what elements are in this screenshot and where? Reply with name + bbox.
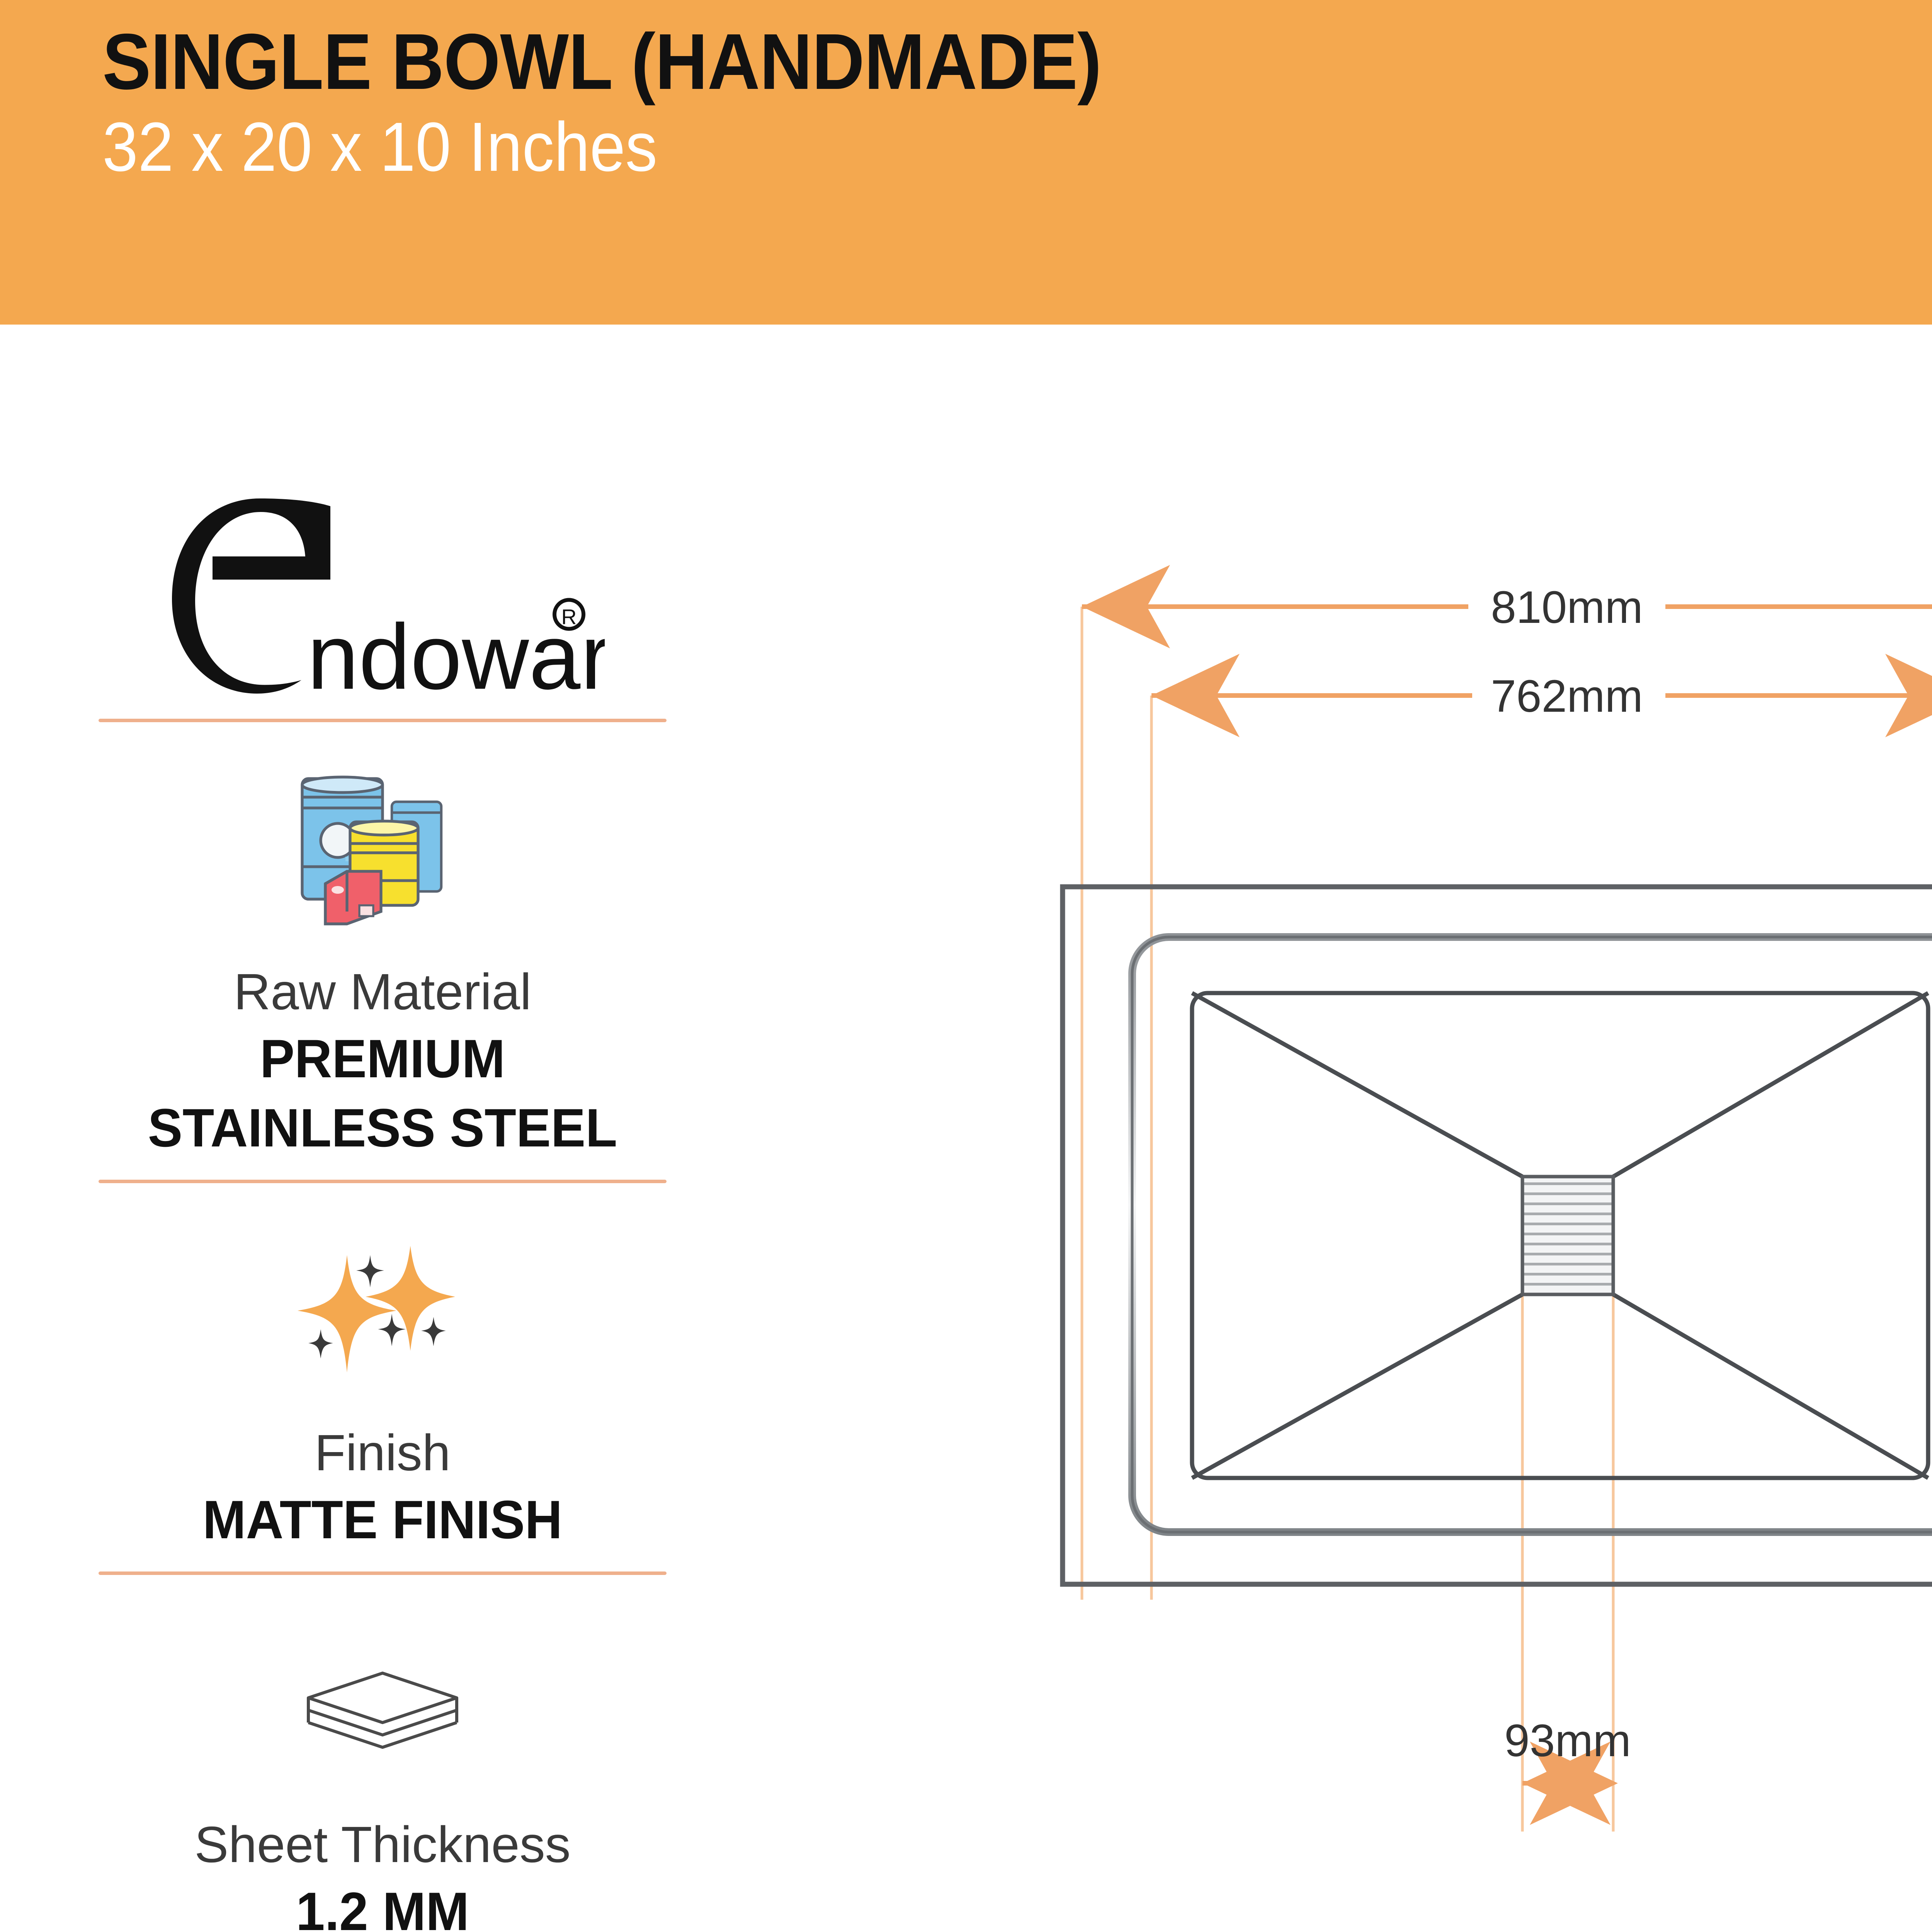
spec-divider xyxy=(99,719,667,722)
dimension-width-inner: 762mm xyxy=(1151,671,1932,722)
dimension-label-810: 810mm xyxy=(1491,582,1643,633)
spec-value-line1: PREMIUM xyxy=(15,1027,750,1090)
spec-value-line1: MATTE FINISH xyxy=(15,1488,750,1551)
spec-label: Raw Material xyxy=(0,963,765,1021)
registered-mark-icon: R xyxy=(561,605,577,629)
dimension-label-762: 762mm xyxy=(1491,671,1643,722)
page-title: SINGLE BOWL (HANDMADE) xyxy=(102,21,1823,102)
top-view-drawing: 810mm 762mm 457mm 500mm 93mm xyxy=(1063,582,1932,1832)
specs-sidebar: ndoware R xyxy=(0,479,765,1932)
sparkle-finish-icon xyxy=(0,1206,765,1422)
product-size-subtitle: 32 x 20 x 10 Inches xyxy=(102,111,1823,184)
spec-label: Sheet Thickness xyxy=(0,1815,765,1874)
page-header: DIMENSIONS SINGLE BOWL (HANDMADE) 32 x 2… xyxy=(0,0,1932,336)
spec-divider xyxy=(99,1571,667,1575)
endoware-logo-icon: ndoware R xyxy=(160,491,605,707)
spec-value-line1: 1.2 MM xyxy=(15,1879,750,1932)
spec-value-line2: STAINLESS STEEL xyxy=(15,1096,750,1160)
brand-logo: ndoware R xyxy=(0,479,765,719)
spec-item-finish: Finish MATTE FINISH xyxy=(0,1183,765,1571)
dimension-label-93: 93mm xyxy=(1504,1715,1631,1766)
spec-divider xyxy=(99,1180,667,1183)
technical-drawing: 810mm 762mm 457mm 500mm 93mm xyxy=(765,479,1932,1932)
dimension-width-outer: 810mm xyxy=(1082,582,1932,633)
spec-item-sheet-thickness: Sheet Thickness 1.2 MM xyxy=(0,1575,765,1932)
spec-label: Finish xyxy=(0,1423,765,1482)
spec-item-raw-material: Raw Material PREMIUM STAINLESS STEEL xyxy=(0,722,765,1180)
title-plate: SINGLE BOWL (HANDMADE) 32 x 20 x 10 Inch… xyxy=(0,0,1932,325)
extension-lines xyxy=(1082,607,1932,1832)
stacked-sheets-icon xyxy=(0,1597,765,1814)
raw-material-drums-icon xyxy=(0,745,765,961)
sink-drain-grating xyxy=(1522,1177,1613,1294)
logo-wordmark: ndoware xyxy=(307,605,605,707)
